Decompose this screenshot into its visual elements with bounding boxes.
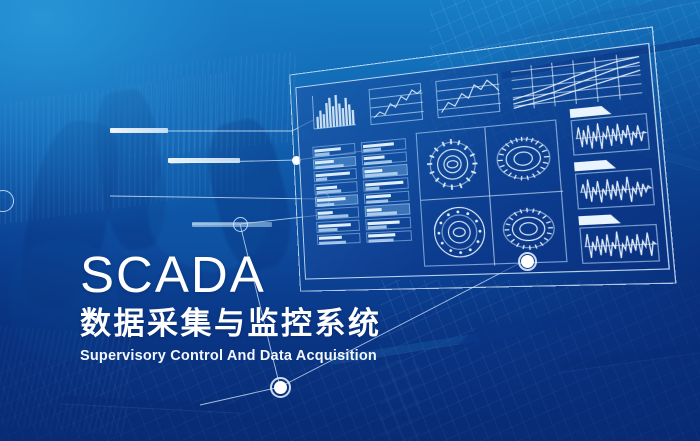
line-chart-2-svg [436,75,501,120]
banner-stage: SCADA 数据采集与监控系统 Supervisory Control And … [0,0,700,441]
bar-chart-svg [310,91,357,131]
waveform-1-panel[interactable] [571,113,650,156]
node-dot-screen[interactable] [521,255,534,268]
node-dot-bottom[interactable] [274,381,287,394]
list-item[interactable] [364,190,410,204]
page-title: SCADA [80,249,500,300]
waveform-1-svg [572,114,652,157]
gauge-grid-svg [417,120,569,267]
waveform-2-svg [576,169,656,210]
waveform-2-panel[interactable] [575,168,655,209]
list-item[interactable] [316,220,360,233]
node-ring-edge [0,190,14,212]
gauge-4 [502,206,556,250]
waveform-3-svg [581,225,662,265]
list-item[interactable] [362,164,408,178]
page-title-chinese: 数据采集与监控系统 [80,308,500,341]
line-chart-1-widget[interactable] [369,83,424,125]
list-item[interactable] [363,177,409,191]
list-item[interactable] [316,207,360,220]
list-item[interactable] [312,143,355,157]
list-item[interactable] [317,233,361,246]
line-chart-1-svg [370,84,425,126]
line-chart-2-widget[interactable] [435,74,500,119]
waveform-3-panel[interactable] [579,224,660,264]
headline-block: SCADA 数据采集与监控系统 Supervisory Control And … [80,249,500,364]
list-item[interactable] [364,204,410,218]
list-item[interactable] [314,181,358,195]
scada-dashboard-screen[interactable] [295,43,670,280]
gauge-1 [426,137,480,192]
list-item[interactable] [365,217,411,230]
gauge-2 [496,135,552,183]
callout-bar-2 [168,158,240,163]
list-item[interactable] [366,230,412,243]
callout-bar-3 [192,222,272,227]
list-item[interactable] [313,156,356,170]
waveform-stack[interactable] [567,101,663,266]
waveform-2-tab [574,159,616,171]
list-item[interactable] [314,168,357,182]
page-subtitle: Supervisory Control And Data Acquisition [80,348,500,364]
node-ring-left[interactable] [233,217,248,232]
gauge-grid-widget[interactable] [416,119,568,266]
callout-bar-1 [110,128,168,133]
list-item[interactable] [315,194,359,207]
waveform-3-tab [578,214,621,225]
bar-chart-widget[interactable] [310,91,357,131]
data-list-column-2 [361,138,414,264]
data-list-column-1 [312,143,362,266]
list-item[interactable] [362,151,408,166]
